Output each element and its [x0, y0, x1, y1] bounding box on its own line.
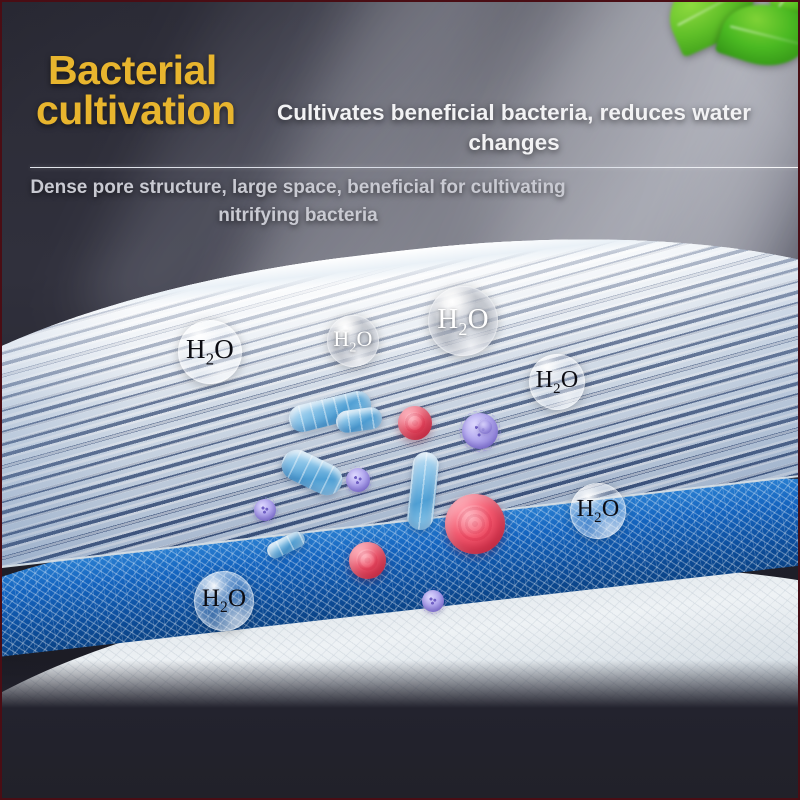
h2o-bubble-label: H2O	[577, 496, 620, 527]
h2o-bubble: H2O	[327, 315, 379, 367]
round-bacteria-icon	[398, 406, 432, 440]
h2o-bubble: H2O	[529, 354, 585, 410]
h2o-bubble: H2O	[178, 320, 242, 384]
h2o-bubble-label: H2O	[186, 334, 234, 369]
virus-particle-icon	[422, 590, 444, 612]
round-bacteria-icon	[349, 542, 386, 579]
divider-line	[30, 167, 800, 168]
description-text: Dense pore structure, large space, benef…	[18, 174, 578, 229]
product-feature-poster: Bacterial cultivation Cultivates benefic…	[0, 0, 800, 800]
virus-particle-icon	[478, 420, 492, 434]
h2o-bubble: H2O	[428, 286, 498, 356]
h2o-bubble-label: H2O	[333, 326, 372, 355]
leaf-decoration-group	[604, 0, 800, 108]
h2o-bubble-label: H2O	[437, 303, 489, 340]
title-line-2: cultivation	[36, 90, 278, 130]
virus-particle-icon	[346, 468, 370, 492]
page-title: Bacterial cultivation	[48, 50, 278, 130]
virus-particle-icon	[254, 499, 276, 521]
h2o-bubble: H2O	[570, 483, 626, 539]
h2o-bubble-label: H2O	[465, 728, 511, 762]
h2o-bubble: H2O	[457, 714, 519, 776]
h2o-bubble-label: H2O	[536, 367, 579, 398]
subtitle-text: Cultivates beneficial bacteria, reduces …	[264, 98, 764, 158]
h2o-bubble-label: H2O	[202, 585, 246, 617]
title-line-1: Bacterial	[48, 47, 217, 93]
h2o-bubble: H2O	[194, 571, 254, 631]
round-bacteria-icon	[445, 494, 505, 554]
filter-mat-illustration	[0, 193, 800, 800]
